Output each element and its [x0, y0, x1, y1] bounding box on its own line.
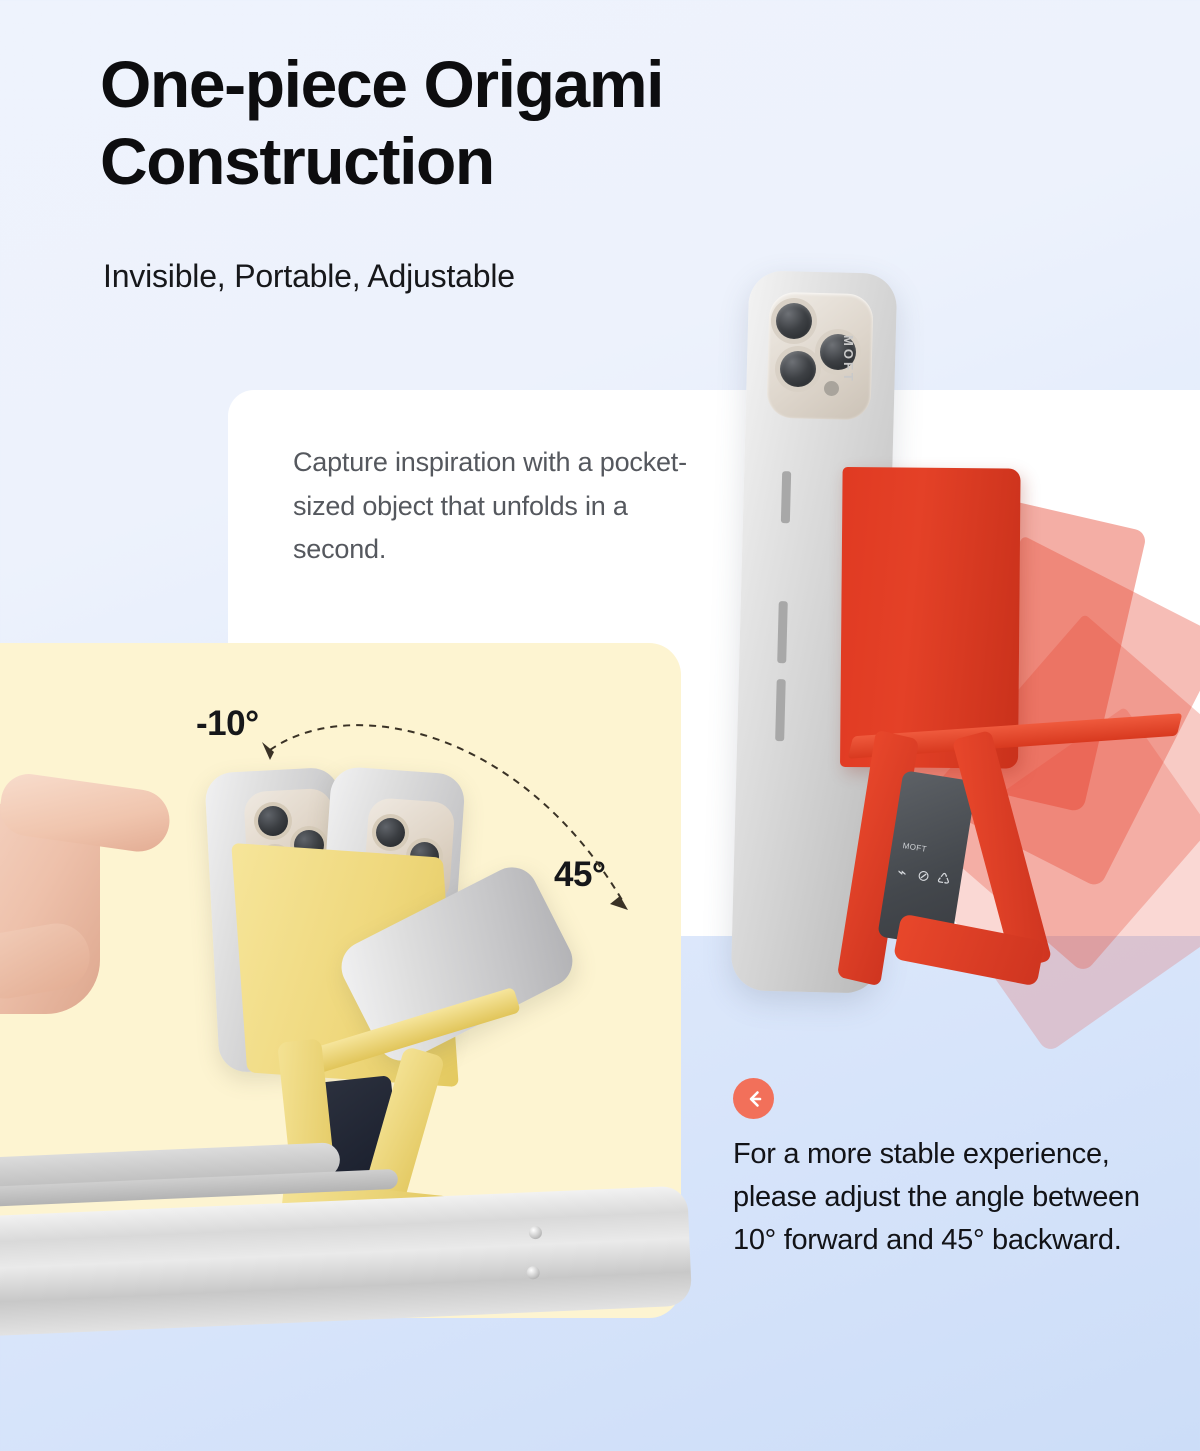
page-root: One-piece Origami Construction Invisible…	[0, 0, 1200, 1451]
suitcase	[0, 1150, 680, 1330]
hand-pointing	[0, 760, 180, 1040]
arrow-left-icon	[733, 1078, 774, 1119]
angle-arc-arrow	[240, 700, 660, 920]
stability-note-text: For a more stable experience, please adj…	[733, 1133, 1173, 1262]
suitcase-body	[0, 1185, 692, 1338]
stability-note: For a more stable experience, please adj…	[733, 1078, 1173, 1262]
info-card-body: Capture inspiration with a pocket-sized …	[293, 441, 693, 572]
suitcase-rivet	[526, 1266, 540, 1280]
suitcase-rivet	[529, 1226, 543, 1240]
